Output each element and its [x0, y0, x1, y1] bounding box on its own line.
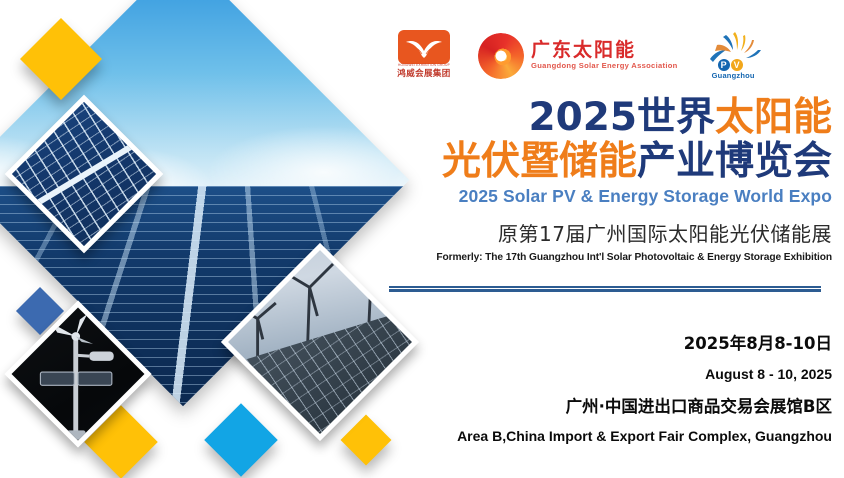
title-line2-navy: 产业博览会 [637, 139, 832, 184]
w-wings-glyph [404, 35, 444, 59]
title-line2-orange: 光伏暨储能 [442, 139, 637, 184]
spacer-2 [396, 381, 832, 399]
title-line1-orange: 太阳能 [715, 95, 832, 140]
title-line1-navy: 2025世界 [528, 95, 715, 140]
pv-letter-v: V [731, 59, 743, 71]
title-block: 2025世界太阳能 光伏暨储能产业博览会 2025 Solar PV & Ene… [386, 96, 832, 263]
pv-letter-p: P [718, 59, 730, 71]
pv-city-label: Guangzhou [712, 71, 755, 80]
formerly-name-en: Formerly: The 17th Guangzhou Int'l Solar… [386, 252, 832, 263]
pv-badge: P V [718, 59, 743, 71]
hongwei-logo-en: HONGWEI EXHIBITION GROUP [398, 64, 450, 67]
event-venue-cn: 广州·中国进出口商品交易会展馆B区 [396, 399, 832, 416]
divider-rule [389, 286, 821, 292]
gsea-logo-cn: 广东太阳能 [531, 41, 678, 61]
guangdong-solar-energy-association-logo: 广东太阳能 Guangdong Solar Energy Association [478, 33, 678, 79]
event-venue-en: Area B,China Import & Export Fair Comple… [396, 429, 832, 443]
logo-row: HONGWEI EXHIBITION GROUP 鸿威会展集团 广东太阳能 Gu… [396, 25, 836, 87]
event-info-block: 2025年8月8-10日 August 8 - 10, 2025 广州·中国进出… [396, 336, 832, 443]
event-date-cn: 2025年8月8-10日 [396, 336, 832, 353]
spacer-1 [396, 353, 832, 367]
w-wings-icon [398, 30, 450, 64]
divider-line-bottom [389, 289, 821, 292]
yellow-diamond-bottom-right [341, 415, 392, 466]
formerly-name-cn: 原第17届广州国际太阳能光伏储能展 [386, 218, 832, 247]
title-line-2: 光伏暨储能产业博览会 [386, 140, 832, 184]
gsea-text: 广东太阳能 Guangdong Solar Energy Association [531, 41, 678, 72]
spacer-3 [396, 415, 832, 429]
poster-canvas: HONGWEI EXHIBITION GROUP 鸿威会展集团 广东太阳能 Gu… [0, 0, 844, 478]
subtitle-english: 2025 Solar PV & Energy Storage World Exp… [386, 186, 832, 207]
event-date-en: August 8 - 10, 2025 [396, 367, 832, 381]
hongwei-logo-cn: 鸿威会展集团 [397, 69, 450, 78]
pv-guangzhou-logo: P V Guangzhou [704, 31, 766, 81]
cyan-diamond-bottom [204, 403, 278, 477]
hongwei-exhibition-group-logo: HONGWEI EXHIBITION GROUP 鸿威会展集团 [396, 30, 452, 82]
title-line-1: 2025世界太阳能 [386, 96, 832, 140]
gsea-logo-en: Guangdong Solar Energy Association [531, 61, 678, 72]
sun-spiral-icon [478, 33, 524, 79]
